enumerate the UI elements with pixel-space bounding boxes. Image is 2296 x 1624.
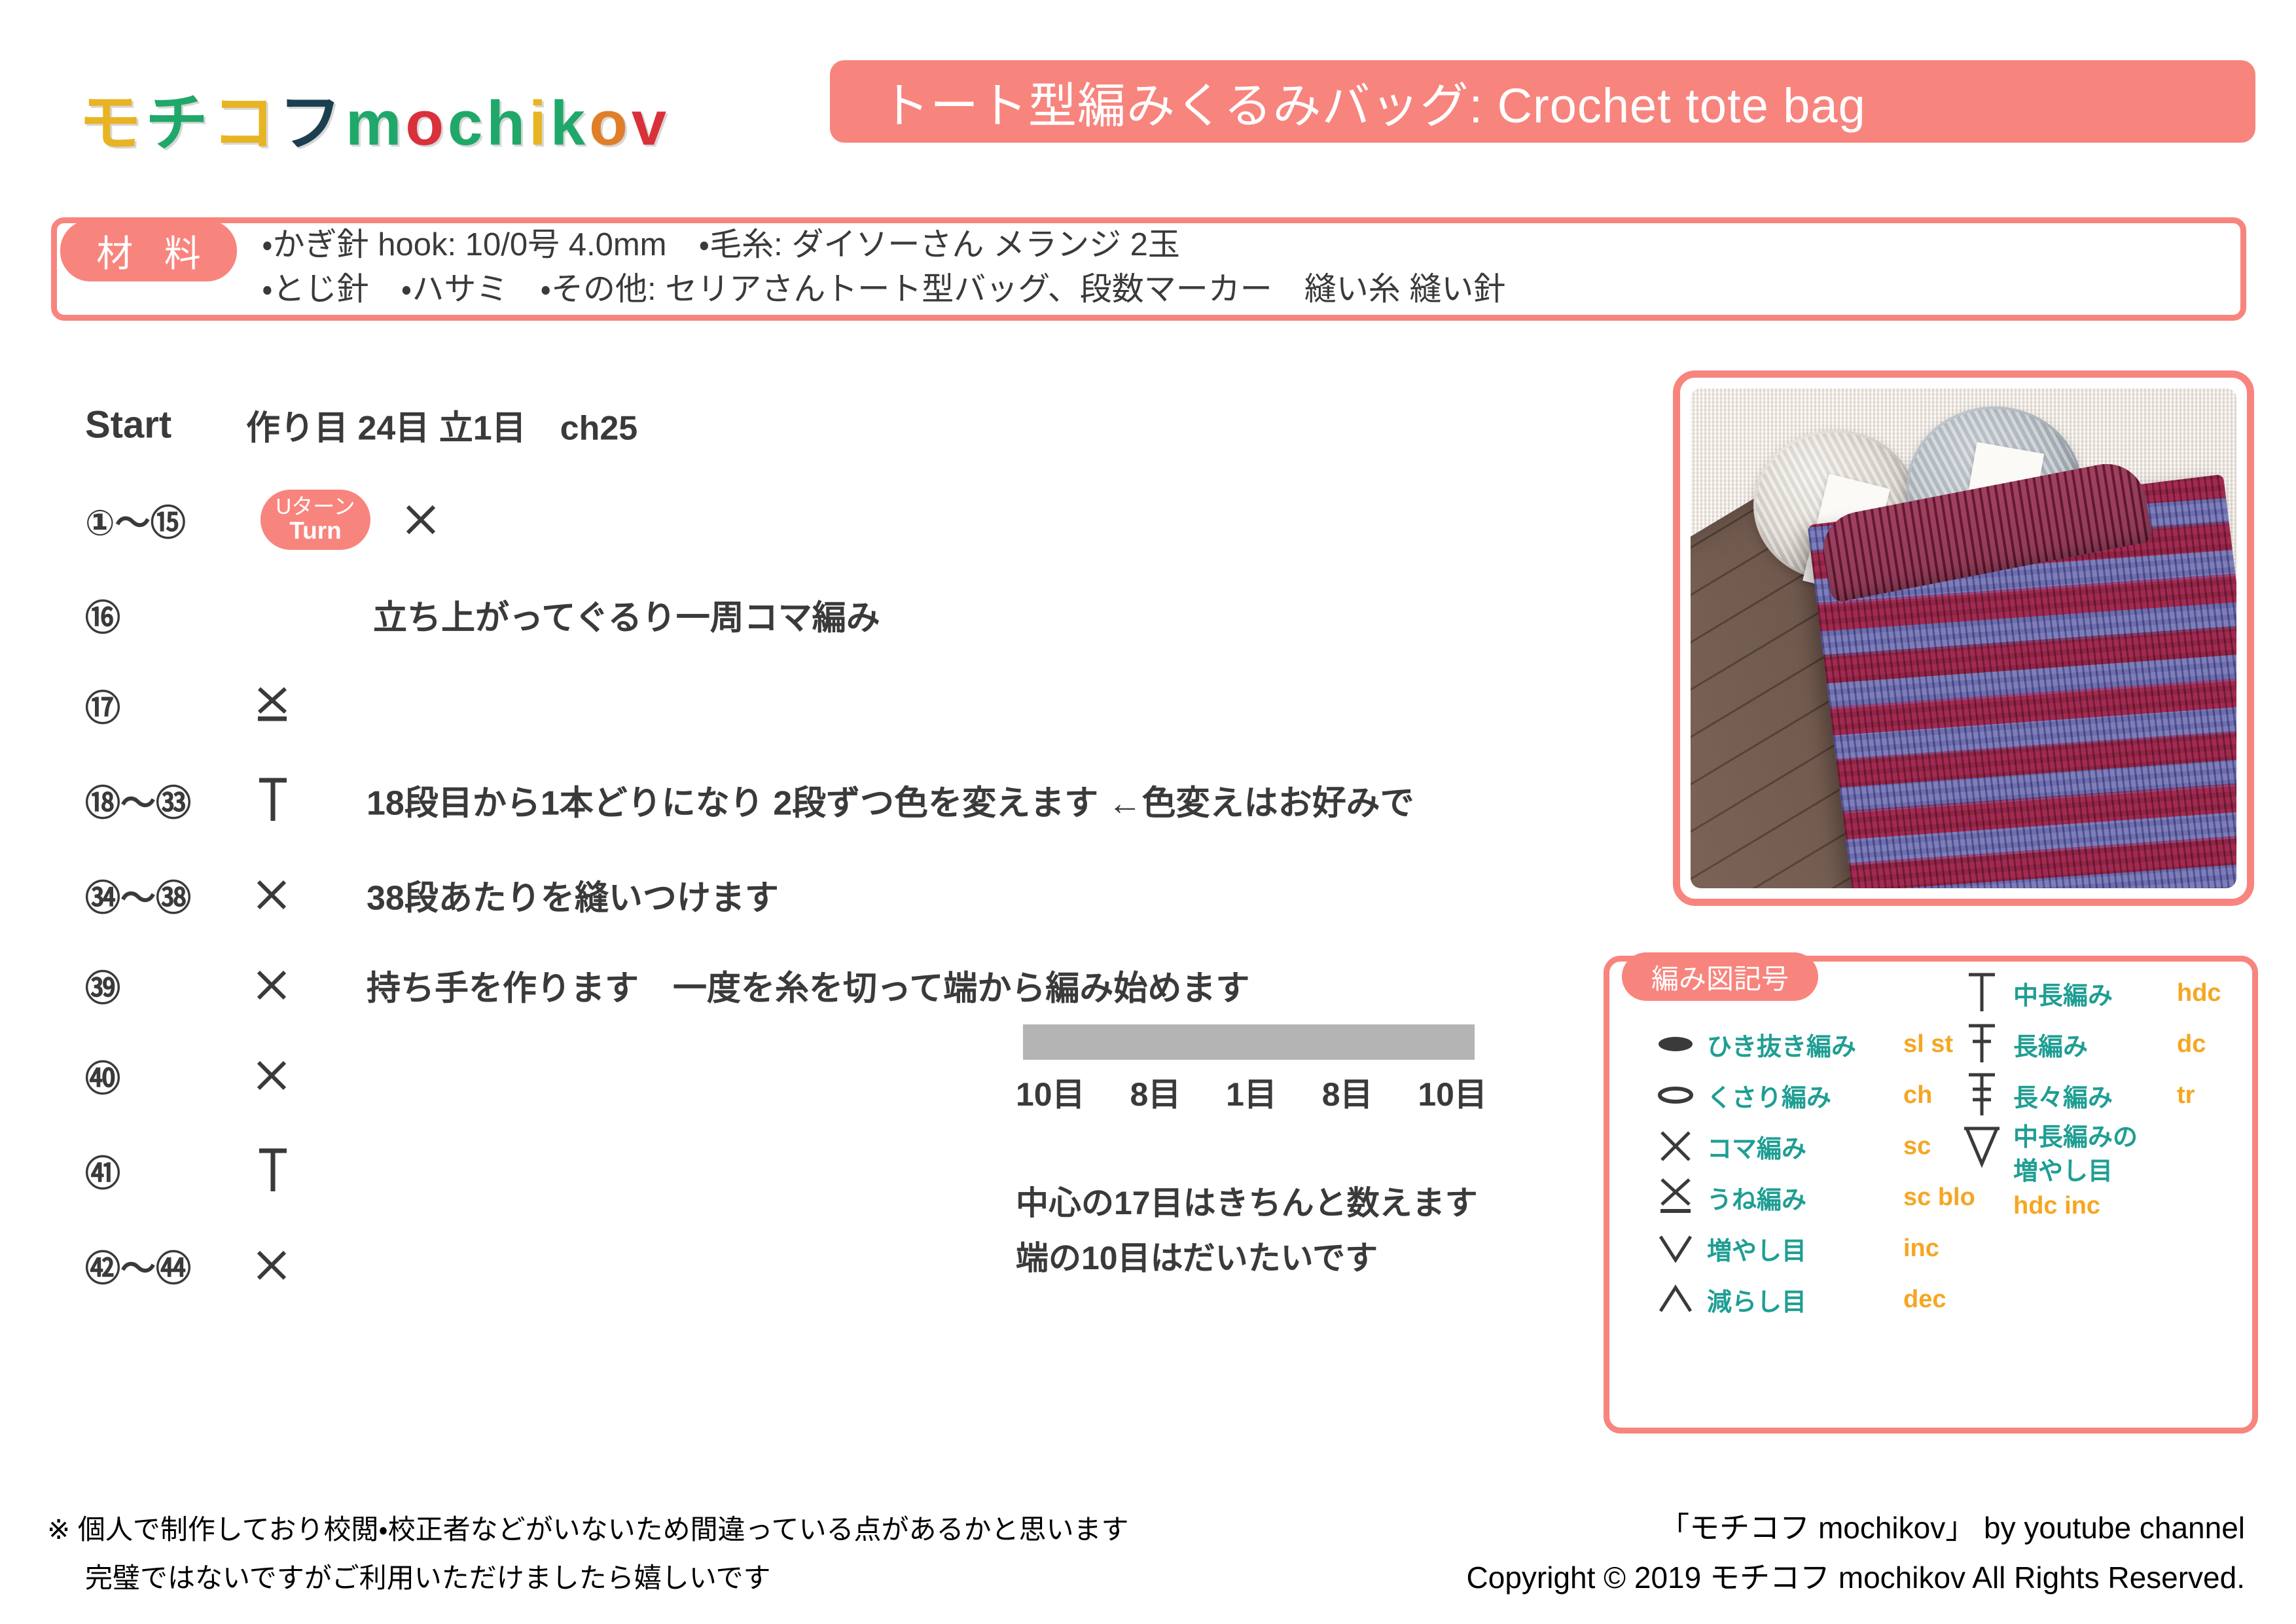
handle-note-2: 端の10目はだいたいです [1016, 1231, 1478, 1286]
count-value: 8目 [1130, 1068, 1181, 1115]
sc-icon [1644, 1128, 1707, 1164]
dc-icon [1950, 1020, 2013, 1068]
materials-list: ・かぎ針 hook: 10/0号 4.0mm ・毛糸: ダイソーさん メランジ … [262, 223, 1505, 312]
dec-icon [1644, 1283, 1707, 1316]
legend-label-en: ch [1903, 1081, 1932, 1110]
instruction-row: ⑱〜㉝ 18段目から1本どりになり 2段ずつ色を変えます ←色変えはお好みで [85, 750, 1604, 850]
logo-char: m [346, 88, 405, 160]
project-photo-frame: Melange Melange [1673, 370, 2254, 906]
legend-row: くさり編み ch [1644, 1070, 1975, 1121]
instruction-row: ㊴ 持ち手を作ります 一度を糸を切って端から編み始めます [85, 940, 1604, 1030]
turn-badge-en: Turn [289, 518, 341, 544]
ch-icon [1644, 1084, 1707, 1106]
round-label: ⑱〜㉝ [85, 774, 249, 826]
legend-label-jp: ひき抜き編み [1707, 1026, 1903, 1062]
sc-blo-icon [1644, 1176, 1707, 1219]
instruction-row: ①〜⑮ Uターン Turn [85, 470, 1604, 569]
instruction-row: Start 作り目 24目 立1目 ch25 [85, 380, 1604, 470]
round-label: ㊷〜㊹ [85, 1240, 249, 1291]
logo-char: v [632, 88, 670, 160]
materials-badge: 材 料 [60, 220, 237, 281]
stitch-symbol-sc-icon [254, 877, 332, 912]
instruction-list: Start 作り目 24目 立1目 ch25 ①〜⑮ Uターン Turn ⑯ 立… [85, 380, 1604, 1310]
legend-label-group: 中長編みの 増やし目 hdc inc [2013, 1121, 2177, 1223]
legend-label-jp: くさり編み [1707, 1077, 1903, 1113]
logo-char: チ [145, 72, 212, 163]
legend-row: 減らし目 dec [1644, 1274, 1975, 1325]
instruction-row: ⑰ [85, 660, 1604, 750]
hdc-icon [1950, 969, 2013, 1017]
stitch-symbol-sc-blo-icon [254, 685, 332, 725]
tr-icon [1950, 1070, 2013, 1121]
legend-row: うね編み sc blo [1644, 1172, 1975, 1223]
page-title: トート型編みくるみバッグ: Crochet tote bag [881, 67, 1866, 137]
round-label: ㊴ [85, 960, 249, 1011]
logo-char: i [529, 88, 550, 160]
turn-badge-jp: Uターン [276, 496, 355, 518]
legend-label-en: dc [2177, 1030, 2206, 1058]
handle-diagram-bar [1023, 1024, 1475, 1060]
logo-char: k [550, 88, 589, 160]
legend-row: 増やし目 inc [1644, 1223, 1975, 1274]
credit-line-1: 「モチコフ mochikov」 by youtube channel [1467, 1503, 2245, 1553]
round-label: ㊶ [85, 1145, 249, 1197]
legend-column-right: 中長編み hdc 長編み dc 長々編み tr [1950, 967, 2221, 1224]
stitch-symbol-sc-icon [403, 502, 439, 537]
legend-label-jp: 長々編み [2013, 1077, 2177, 1113]
legend-label-en: inc [1903, 1235, 1939, 1263]
inc-icon [1644, 1232, 1707, 1265]
project-photo: Melange Melange [1691, 388, 2236, 888]
legend-row: ひき抜き編み sl st [1644, 1019, 1975, 1070]
count-value: 10目 [1418, 1068, 1487, 1115]
materials-line-2: ・とじ針 ・ハサミ ・その他: セリアさんトート型バッグ、段数マーカー 縫い糸 … [262, 267, 1505, 312]
round-text: 18段目から1本どりになり 2段ずつ色を変えます ←色変えはお好みで [367, 776, 1414, 825]
symbol-legend-badge: 編み図記号 [1622, 952, 1818, 1001]
stitch-symbol-hdc-icon [254, 774, 332, 826]
handle-stitch-counts: 10目 8目 1目 8目 10目 [1016, 1068, 1487, 1115]
title-banner: トート型編みくるみバッグ: Crochet tote bag [830, 60, 2255, 143]
stitch-symbol-sc-icon [254, 1248, 332, 1283]
logo-char: c [448, 88, 486, 160]
round-label: ①〜⑮ [85, 494, 249, 546]
sl-st-icon [1644, 1033, 1707, 1055]
pattern-sheet: モチコフ mochikov トート型編みくるみバッグ: Crochet tote… [0, 0, 2296, 1624]
round-label: ㊵ [85, 1050, 249, 1102]
legend-label-jp: 中長編みの [2013, 1121, 2177, 1155]
legend-column-left: ひき抜き編み sl st くさり編み ch コマ編み sc うね編み [1644, 1019, 1975, 1325]
handle-note-1: 中心の17目はきちんと数えます [1016, 1176, 1478, 1231]
round-label: Start [85, 403, 249, 447]
legend-label-en: tr [2177, 1081, 2195, 1110]
stitch-symbol-sc-icon [254, 967, 332, 1003]
legend-label-jp: うね編み [1707, 1180, 1903, 1216]
disclaimer-line-1: ※ 個人で制作しており校閲・校正者などがいないため間違っている点があるかと思いま… [47, 1506, 1129, 1554]
logo-char: モ [79, 72, 145, 163]
logo-char: o [589, 88, 632, 160]
count-value: 8目 [1322, 1068, 1373, 1115]
round-label: ⑰ [85, 679, 249, 731]
materials-line-1: ・かぎ針 hook: 10/0号 4.0mm ・毛糸: ダイソーさん メランジ … [262, 223, 1505, 267]
legend-label-jp: 長編み [2013, 1026, 2177, 1062]
legend-row: 長々編み tr [1950, 1070, 2221, 1121]
hdc-inc-icon [1950, 1121, 2013, 1169]
credit-line-2: Copyright © 2019 モチコフ mochikov All Right… [1467, 1553, 2245, 1602]
count-value: 10目 [1016, 1068, 1085, 1115]
handle-notes: 中心の17目はきちんと数えます 端の10目はだいたいです [1016, 1176, 1478, 1286]
legend-label-jp: 増やし目 [2013, 1155, 2177, 1189]
brand-logo: モチコフ mochikov [79, 72, 670, 163]
disclaimer-note: ※ 個人で制作しており校閲・校正者などがいないため間違っている点があるかと思いま… [47, 1506, 1129, 1602]
legend-label-en: sl st [1903, 1030, 1953, 1058]
legend-row: コマ編み sc [1644, 1121, 1975, 1172]
count-value: 1目 [1226, 1068, 1277, 1115]
legend-row: 中長編み hdc [1950, 967, 2221, 1019]
round-label: ㉞〜㊳ [85, 869, 249, 921]
instruction-row: ⑯ 立ち上がってぐるり一周コマ編み [85, 569, 1604, 660]
turn-badge: Uターン Turn [260, 490, 370, 550]
round-text: 持ち手を作ります 一度を糸を切って端から編み始めます [367, 961, 1249, 1010]
disclaimer-line-2: 完璧ではないですがご利用いただけましたら嬉しいです [47, 1554, 1129, 1602]
legend-label-en: dec [1903, 1286, 1946, 1314]
logo-char: o [405, 88, 448, 160]
legend-label-jp: 減らし目 [1707, 1282, 1903, 1318]
copyright-block: 「モチコフ mochikov」 by youtube channel Copyr… [1467, 1503, 2245, 1602]
round-text: 38段あたりを縫いつけます [367, 871, 779, 920]
legend-row: 中長編みの 増やし目 hdc inc [1950, 1121, 2221, 1224]
legend-label-jp: 中長編み [2013, 975, 2177, 1011]
legend-label-jp: 増やし目 [1707, 1231, 1903, 1267]
logo-char: コ [212, 72, 279, 163]
instruction-row: ㉞〜㊳ 38段あたりを縫いつけます [85, 850, 1604, 940]
round-text: 作り目 24目 立1目 ch25 [246, 401, 637, 450]
legend-label-en: sc [1903, 1132, 1931, 1161]
legend-row: 長編み dc [1950, 1019, 2221, 1070]
legend-label-en: hdc [2177, 979, 2221, 1007]
stitch-symbol-sc-icon [254, 1058, 332, 1093]
legend-label-en: hdc inc [2013, 1189, 2177, 1223]
round-text: 立ち上がってぐるり一周コマ編み [373, 590, 880, 640]
stitch-symbol-hdc-icon [254, 1144, 332, 1197]
legend-label-jp: コマ編み [1707, 1128, 1903, 1164]
round-label: ⑯ [85, 589, 249, 641]
logo-char: h [486, 88, 529, 160]
logo-char: フ [279, 72, 346, 163]
